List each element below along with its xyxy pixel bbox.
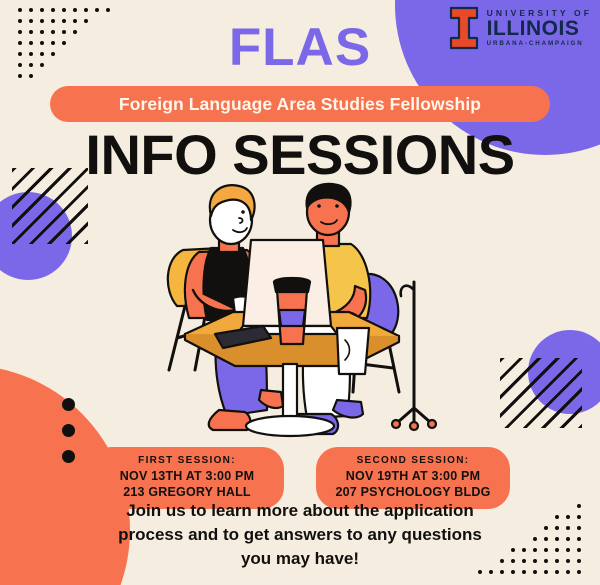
footer-copy: Join us to learn more about the applicat… xyxy=(60,499,540,571)
grid-dot xyxy=(40,8,44,12)
grid-dot xyxy=(577,515,581,519)
footer-line-3: you may have! xyxy=(60,547,540,571)
footer-line-1: Join us to learn more about the applicat… xyxy=(60,499,540,523)
accent-dot xyxy=(62,424,75,437)
session-location: 213 GREGORY HALL xyxy=(108,484,266,500)
page-title: INFO SESSIONS xyxy=(0,122,600,187)
grid-dot xyxy=(95,8,99,12)
session-location: 207 PSYCHOLOGY BLDG xyxy=(334,484,492,500)
session-label: FIRST SESSION: xyxy=(108,455,266,466)
grid-dot xyxy=(577,537,581,541)
flas-info-sessions-poster: UNIVERSITY OF ILLINOIS URBANA-CHAMPAIGN … xyxy=(0,0,600,585)
grid-dot xyxy=(62,8,66,12)
coffee-cup xyxy=(274,278,310,344)
grid-dot xyxy=(555,526,559,530)
wordmark-line-university: UNIVERSITY OF xyxy=(487,9,592,18)
university-wordmark: UNIVERSITY OF ILLINOIS URBANA-CHAMPAIGN xyxy=(487,9,592,48)
grid-dot xyxy=(84,8,88,12)
footer-line-2: process and to get answers to any questi… xyxy=(60,523,540,547)
grid-dot xyxy=(566,537,570,541)
grid-dot xyxy=(577,548,581,552)
purple-circle-left xyxy=(0,192,72,280)
accent-dot xyxy=(62,398,75,411)
grid-dot xyxy=(544,559,548,563)
diagonal-stripes-right xyxy=(500,358,582,428)
grid-dot xyxy=(555,570,559,574)
grid-dot xyxy=(18,8,22,12)
grid-dot xyxy=(555,515,559,519)
subtitle-text: Foreign Language Area Studies Fellowship xyxy=(119,94,481,115)
grid-dot xyxy=(566,515,570,519)
grid-dot xyxy=(577,526,581,530)
grid-dot xyxy=(555,548,559,552)
subtitle-pill: Foreign Language Area Studies Fellowship xyxy=(50,86,550,122)
grid-dot xyxy=(566,559,570,563)
session-label: SECOND SESSION: xyxy=(334,455,492,466)
grid-dot xyxy=(51,8,55,12)
grid-dot xyxy=(566,570,570,574)
illinois-block-i-icon xyxy=(449,6,479,50)
two-people-at-table-illustration xyxy=(155,178,455,440)
grid-dot xyxy=(73,8,77,12)
grid-dot xyxy=(544,526,548,530)
grid-dot xyxy=(29,8,33,12)
session-datetime: NOV 13TH AT 3:00 PM xyxy=(108,468,266,484)
university-logo: UNIVERSITY OF ILLINOIS URBANA-CHAMPAIGN xyxy=(449,6,592,50)
purple-circle-right xyxy=(528,330,600,414)
grid-dot xyxy=(544,548,548,552)
grid-dot xyxy=(544,570,548,574)
grid-dot xyxy=(577,570,581,574)
wordmark-line-illinois: ILLINOIS xyxy=(487,18,592,39)
grid-dot xyxy=(555,559,559,563)
grid-dot xyxy=(555,537,559,541)
grid-dot xyxy=(544,537,548,541)
grid-dot xyxy=(106,8,110,12)
session-datetime: NOV 19TH AT 3:00 PM xyxy=(334,468,492,484)
grid-dot xyxy=(577,559,581,563)
wordmark-line-campus: URBANA-CHAMPAIGN xyxy=(487,41,592,47)
grid-dot xyxy=(566,548,570,552)
grid-dot xyxy=(566,526,570,530)
